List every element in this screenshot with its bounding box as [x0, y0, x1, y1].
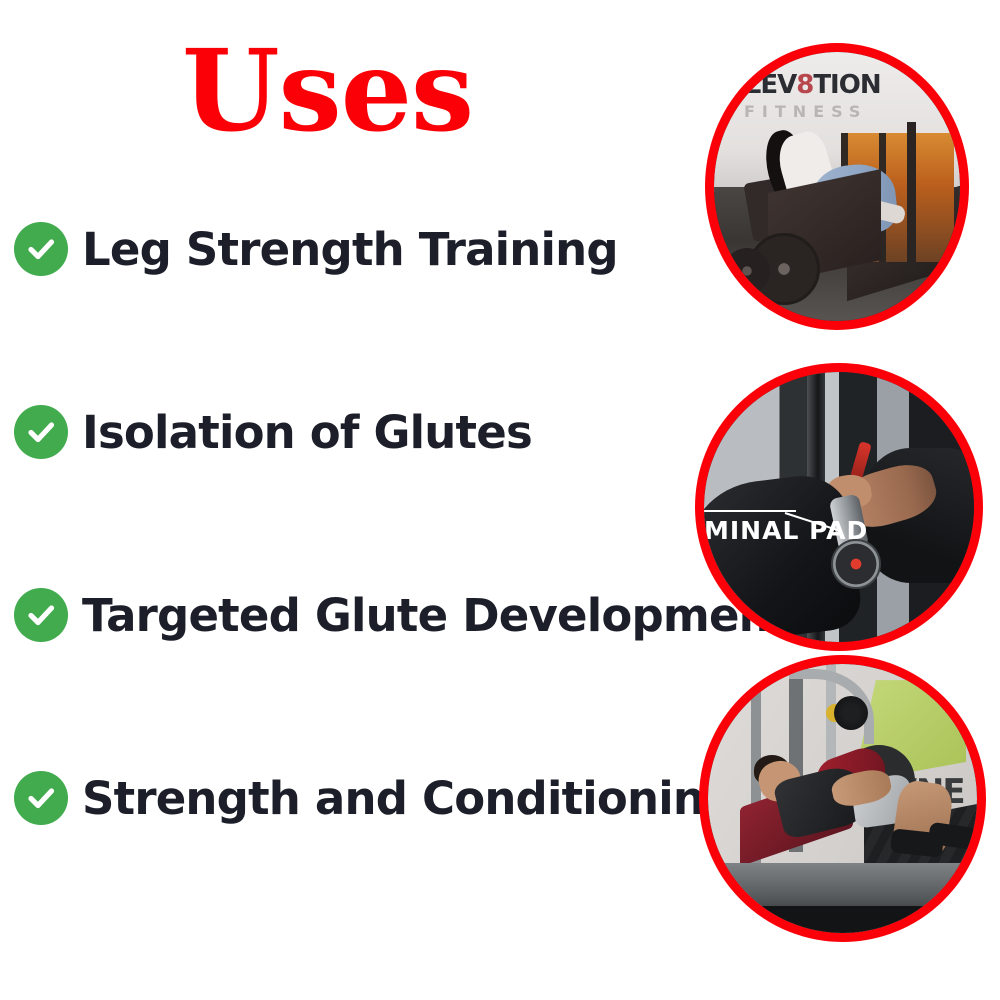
list-item-label: Isolation of Glutes — [82, 410, 532, 455]
wall-sign-text: ELEV8TION — [728, 70, 881, 100]
list-item: Targeted Glute Development — [14, 588, 791, 642]
photo-inner: ELEV8TION FITNESS — [714, 52, 960, 321]
callout-label: MINAL PAD — [704, 516, 868, 545]
adjustment-knob — [831, 539, 881, 589]
abdominal-pad-photo: MINAL PAD — [695, 363, 983, 651]
gym-floor — [708, 906, 977, 933]
list-item-label: Strength and Conditioning — [82, 776, 736, 821]
uses-list: Leg Strength Training Isolation of Glute… — [0, 0, 760, 1000]
weight-plate — [724, 248, 770, 294]
uses-infographic: Uses Leg Strength Training Isolation of … — [0, 0, 1000, 1000]
photo-inner: MINAL PAD — [704, 372, 974, 642]
photo-inner: WNE — [708, 664, 977, 933]
check-circle-icon — [14, 771, 68, 825]
list-item: Strength and Conditioning — [14, 771, 736, 825]
leg-press-woman-photo: ELEV8TION FITNESS — [705, 43, 969, 330]
list-item: Leg Strength Training — [14, 222, 618, 276]
check-circle-icon — [14, 588, 68, 642]
callout-underline — [704, 510, 796, 512]
background-post — [907, 122, 916, 273]
wall-sign-subtext: FITNESS — [744, 102, 867, 121]
check-circle-icon — [14, 222, 68, 276]
leg-press-man-photo: WNE — [699, 655, 986, 942]
list-item: Isolation of Glutes — [14, 405, 532, 459]
list-item-label: Leg Strength Training — [82, 227, 618, 272]
check-circle-icon — [14, 405, 68, 459]
list-item-label: Targeted Glute Development — [82, 593, 791, 638]
wall-sign-eight: 8 — [796, 70, 813, 100]
